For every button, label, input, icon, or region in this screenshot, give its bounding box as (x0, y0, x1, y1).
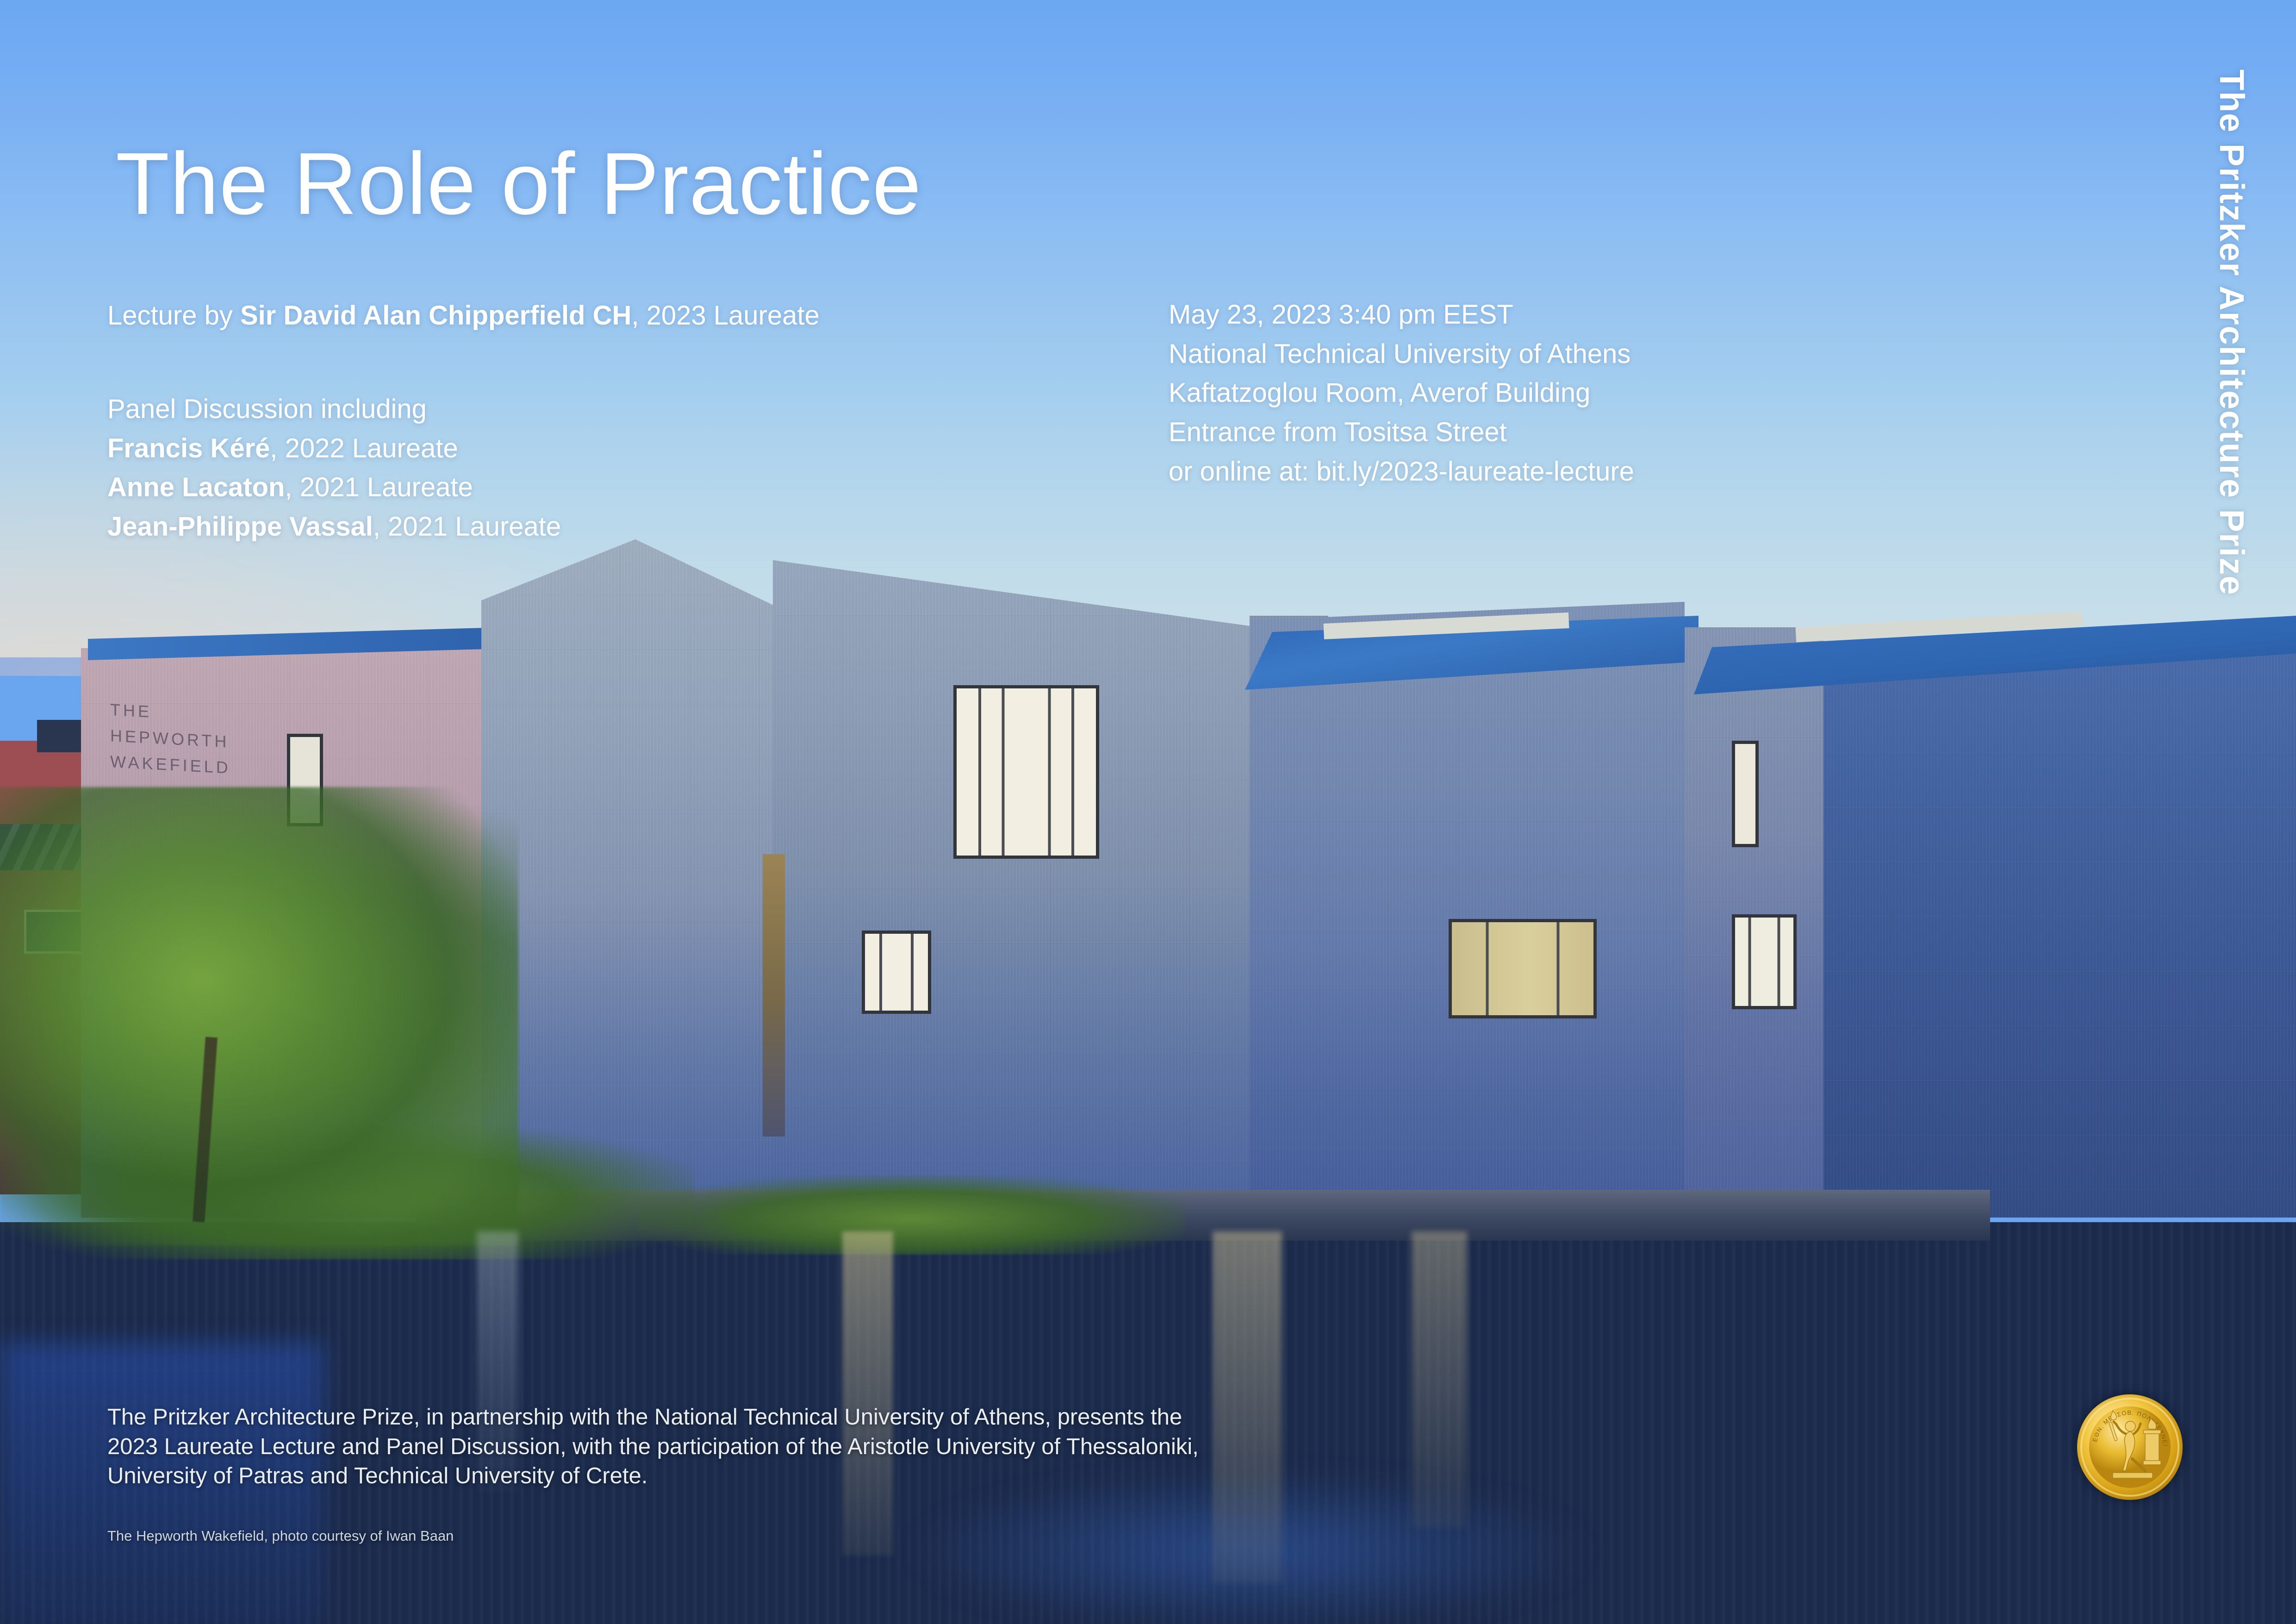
water-reflection-warm-column-c (1412, 1231, 1467, 1528)
panel-member-name: Anne Lacaton (107, 472, 285, 502)
event-datetime: May 23, 2023 3:40 pm EEST (1169, 295, 1634, 335)
museum-window-far-right-tall (1732, 741, 1759, 847)
panel-member-name: Francis Kéré (107, 433, 270, 463)
event-online-link[interactable]: or online at: bit.ly/2023-laureate-lectu… (1169, 452, 1634, 492)
medal-figure: ΕΘΝ. ΜΕΤΣΟΒ. ΠΟΛΥΤΕΧΝΕΙΟΝ (2077, 1394, 2183, 1500)
panel-discussion-block: Panel Discussion including Francis Kéré,… (107, 390, 561, 547)
lecture-line: Lecture by Sir David Alan Chipperfield C… (107, 296, 820, 336)
building-signage: THE HEPWORTH WAKEFIELD (110, 697, 231, 781)
event-room: Kaftatzoglou Room, Averof Building (1169, 374, 1634, 413)
museum-window-lit-center (1449, 919, 1597, 1018)
panel-member-row: Francis Kéré, 2022 Laureate (107, 429, 561, 468)
page-title: The Role of Practice (116, 140, 921, 228)
panel-member-row: Anne Lacaton, 2021 Laureate (107, 468, 561, 507)
museum-block-main-facade (773, 560, 1250, 1218)
museum-window-main-small (862, 931, 931, 1014)
panel-member-role: , 2022 Laureate (270, 433, 458, 463)
panel-member-name: Jean-Philippe Vassal (107, 512, 373, 542)
panel-member-row: Jean-Philippe Vassal, 2021 Laureate (107, 507, 561, 547)
museum-window-far-right-low (1732, 914, 1797, 1009)
museum-window-main-large (953, 685, 1099, 859)
water-reflection-warm-column-b (1213, 1231, 1282, 1583)
footer-partnership-block: The Pritzker Architecture Prize, in part… (107, 1403, 1199, 1491)
foreground-tree (0, 787, 518, 1245)
museum-block-right-corner (1823, 643, 2296, 1218)
lecture-speaker-name: Sir David Alan Chipperfield CH (240, 300, 631, 331)
museum-block-center-right (1250, 602, 1685, 1218)
lecture-prefix: Lecture by (107, 300, 240, 331)
poster-canvas: THE HEPWORTH WAKEFIELD (0, 0, 2296, 1624)
panel-heading: Panel Discussion including (107, 390, 561, 429)
museum-block-center-pylon (481, 539, 778, 1218)
footer-line-2: 2023 Laureate Lecture and Panel Discussi… (107, 1432, 1199, 1462)
event-details-block: May 23, 2023 3:40 pm EEST National Techn… (1169, 295, 1634, 491)
footer-line-1: The Pritzker Architecture Prize, in part… (107, 1403, 1199, 1432)
footer-line-3: University of Patras and Technical Unive… (107, 1462, 1199, 1491)
panel-member-role: , 2021 Laureate (285, 472, 473, 502)
museum-bronze-door-slot (763, 854, 785, 1137)
event-venue: National Technical University of Athens (1169, 335, 1634, 374)
brand-vertical-label: The Pritzker Architecture Prize (2212, 69, 2252, 596)
photo-credit: The Hepworth Wakefield, photo courtesy o… (107, 1528, 454, 1544)
vegetation-bank-center (639, 1176, 1185, 1255)
ntua-medal-icon: ΕΘΝ. ΜΕΤΣΟΒ. ΠΟΛΥΤΕΧΝΕΙΟΝ (2077, 1394, 2183, 1500)
lecture-suffix: , 2023 Laureate (631, 300, 819, 331)
water-reflection-warm-column-a (842, 1231, 893, 1555)
event-entrance: Entrance from Tositsa Street (1169, 413, 1634, 452)
panel-member-role: , 2021 Laureate (373, 512, 561, 542)
